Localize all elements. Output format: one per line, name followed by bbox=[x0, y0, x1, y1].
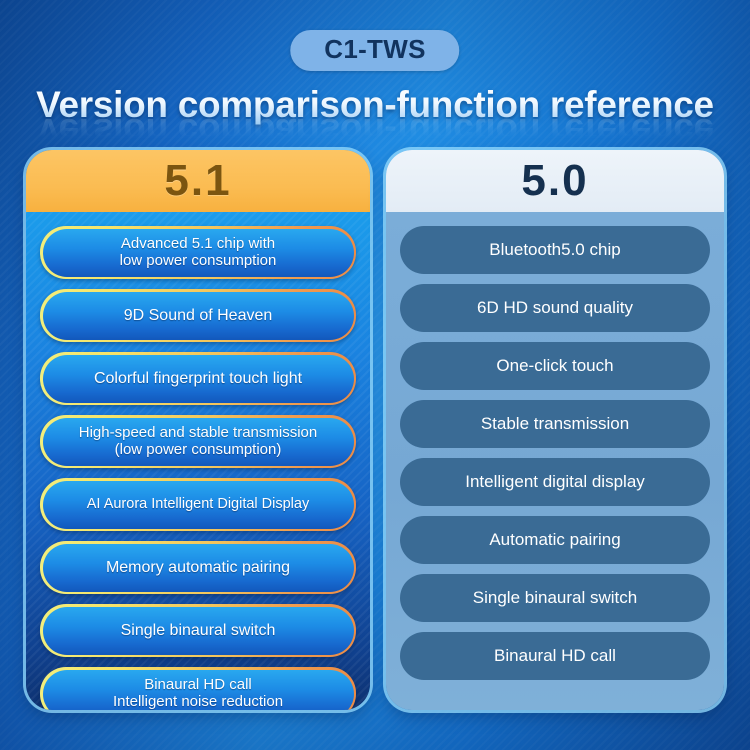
feature-item[interactable]: AI Aurora Intelligent Digital Display bbox=[40, 478, 356, 531]
feature-label: Binaural HD call Intelligent noise reduc… bbox=[43, 670, 354, 711]
feature-label: Memory automatic pairing bbox=[43, 544, 354, 592]
feature-item[interactable]: Single binaural switch bbox=[400, 574, 710, 622]
feature-item[interactable]: Memory automatic pairing bbox=[40, 541, 356, 594]
version-card-51: 5.1 Advanced 5.1 chip with low power con… bbox=[26, 150, 370, 710]
version-label-51: 5.1 bbox=[26, 150, 370, 212]
feature-list-51: Advanced 5.1 chip with low power consump… bbox=[26, 218, 370, 710]
feature-item[interactable]: One-click touch bbox=[400, 342, 710, 390]
version-card-50-body: Bluetooth5.0 chip 6D HD sound quality On… bbox=[386, 212, 724, 710]
feature-item[interactable]: Single binaural switch bbox=[40, 604, 356, 657]
product-name-badge: C1-TWS bbox=[290, 30, 459, 71]
feature-item[interactable]: 9D Sound of Heaven bbox=[40, 289, 356, 342]
feature-item[interactable]: 6D HD sound quality bbox=[400, 284, 710, 332]
version-card-50: 5.0 Bluetooth5.0 chip 6D HD sound qualit… bbox=[386, 150, 724, 710]
feature-item[interactable]: Stable transmission bbox=[400, 400, 710, 448]
feature-item[interactable]: Colorful fingerprint touch light bbox=[40, 352, 356, 405]
feature-label: 9D Sound of Heaven bbox=[43, 292, 354, 340]
feature-item[interactable]: Binaural HD call Intelligent noise reduc… bbox=[40, 667, 356, 710]
feature-item[interactable]: Automatic pairing bbox=[400, 516, 710, 564]
feature-label: Single binaural switch bbox=[43, 607, 354, 655]
feature-item[interactable]: Binaural HD call bbox=[400, 632, 710, 680]
feature-item[interactable]: Bluetooth5.0 chip bbox=[400, 226, 710, 274]
feature-label: AI Aurora Intelligent Digital Display bbox=[43, 481, 354, 529]
feature-item[interactable]: Advanced 5.1 chip with low power consump… bbox=[40, 226, 356, 279]
version-card-51-body: Advanced 5.1 chip with low power consump… bbox=[26, 212, 370, 710]
feature-list-50: Bluetooth5.0 chip 6D HD sound quality On… bbox=[386, 218, 724, 680]
feature-label: Advanced 5.1 chip with low power consump… bbox=[43, 229, 354, 277]
feature-item[interactable]: High-speed and stable transmission (low … bbox=[40, 415, 356, 468]
feature-label: High-speed and stable transmission (low … bbox=[43, 418, 354, 466]
version-label-50: 5.0 bbox=[386, 150, 724, 212]
feature-label: Colorful fingerprint touch light bbox=[43, 355, 354, 403]
feature-item[interactable]: Intelligent digital display bbox=[400, 458, 710, 506]
